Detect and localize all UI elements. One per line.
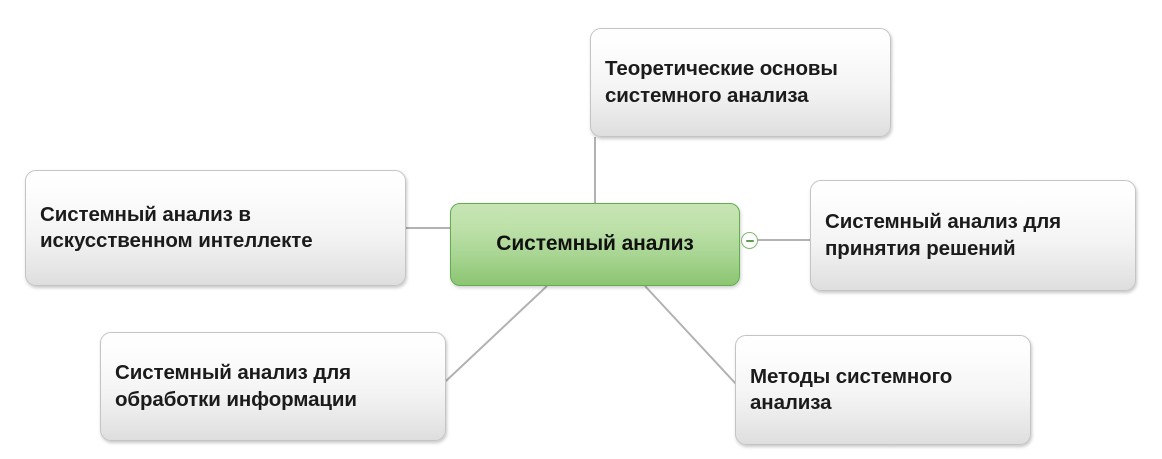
central-node[interactable]: Системный анализ (450, 203, 740, 286)
branch-node-left[interactable]: Системный анализ в искусственном интелле… (25, 170, 406, 286)
central-node-label: Системный анализ (496, 231, 693, 258)
mindmap-canvas: Теоретические основы системного анализа … (0, 0, 1162, 459)
minus-glyph (746, 240, 754, 242)
branch-node-right-label: Системный анализ для принятия решений (825, 209, 1061, 261)
branch-node-bottom-left[interactable]: Системный анализ для обработки информаци… (100, 332, 446, 441)
branch-node-left-label: Системный анализ в искусственном интелле… (40, 202, 313, 254)
connector-central-to-bottomleft (446, 286, 547, 381)
branch-node-bottom-right[interactable]: Методы системного анализа (735, 335, 1031, 445)
collapse-minus-icon[interactable] (741, 232, 758, 249)
branch-node-bottom-left-label: Системный анализ для обработки информаци… (115, 360, 357, 412)
connector-central-to-bottomright (645, 286, 736, 384)
branch-node-top[interactable]: Теоретические основы системного анализа (590, 28, 891, 137)
branch-node-top-label: Теоретические основы системного анализа (605, 56, 838, 108)
branch-node-right[interactable]: Системный анализ для принятия решений (810, 180, 1136, 291)
branch-node-bottom-right-label: Методы системного анализа (750, 364, 952, 416)
